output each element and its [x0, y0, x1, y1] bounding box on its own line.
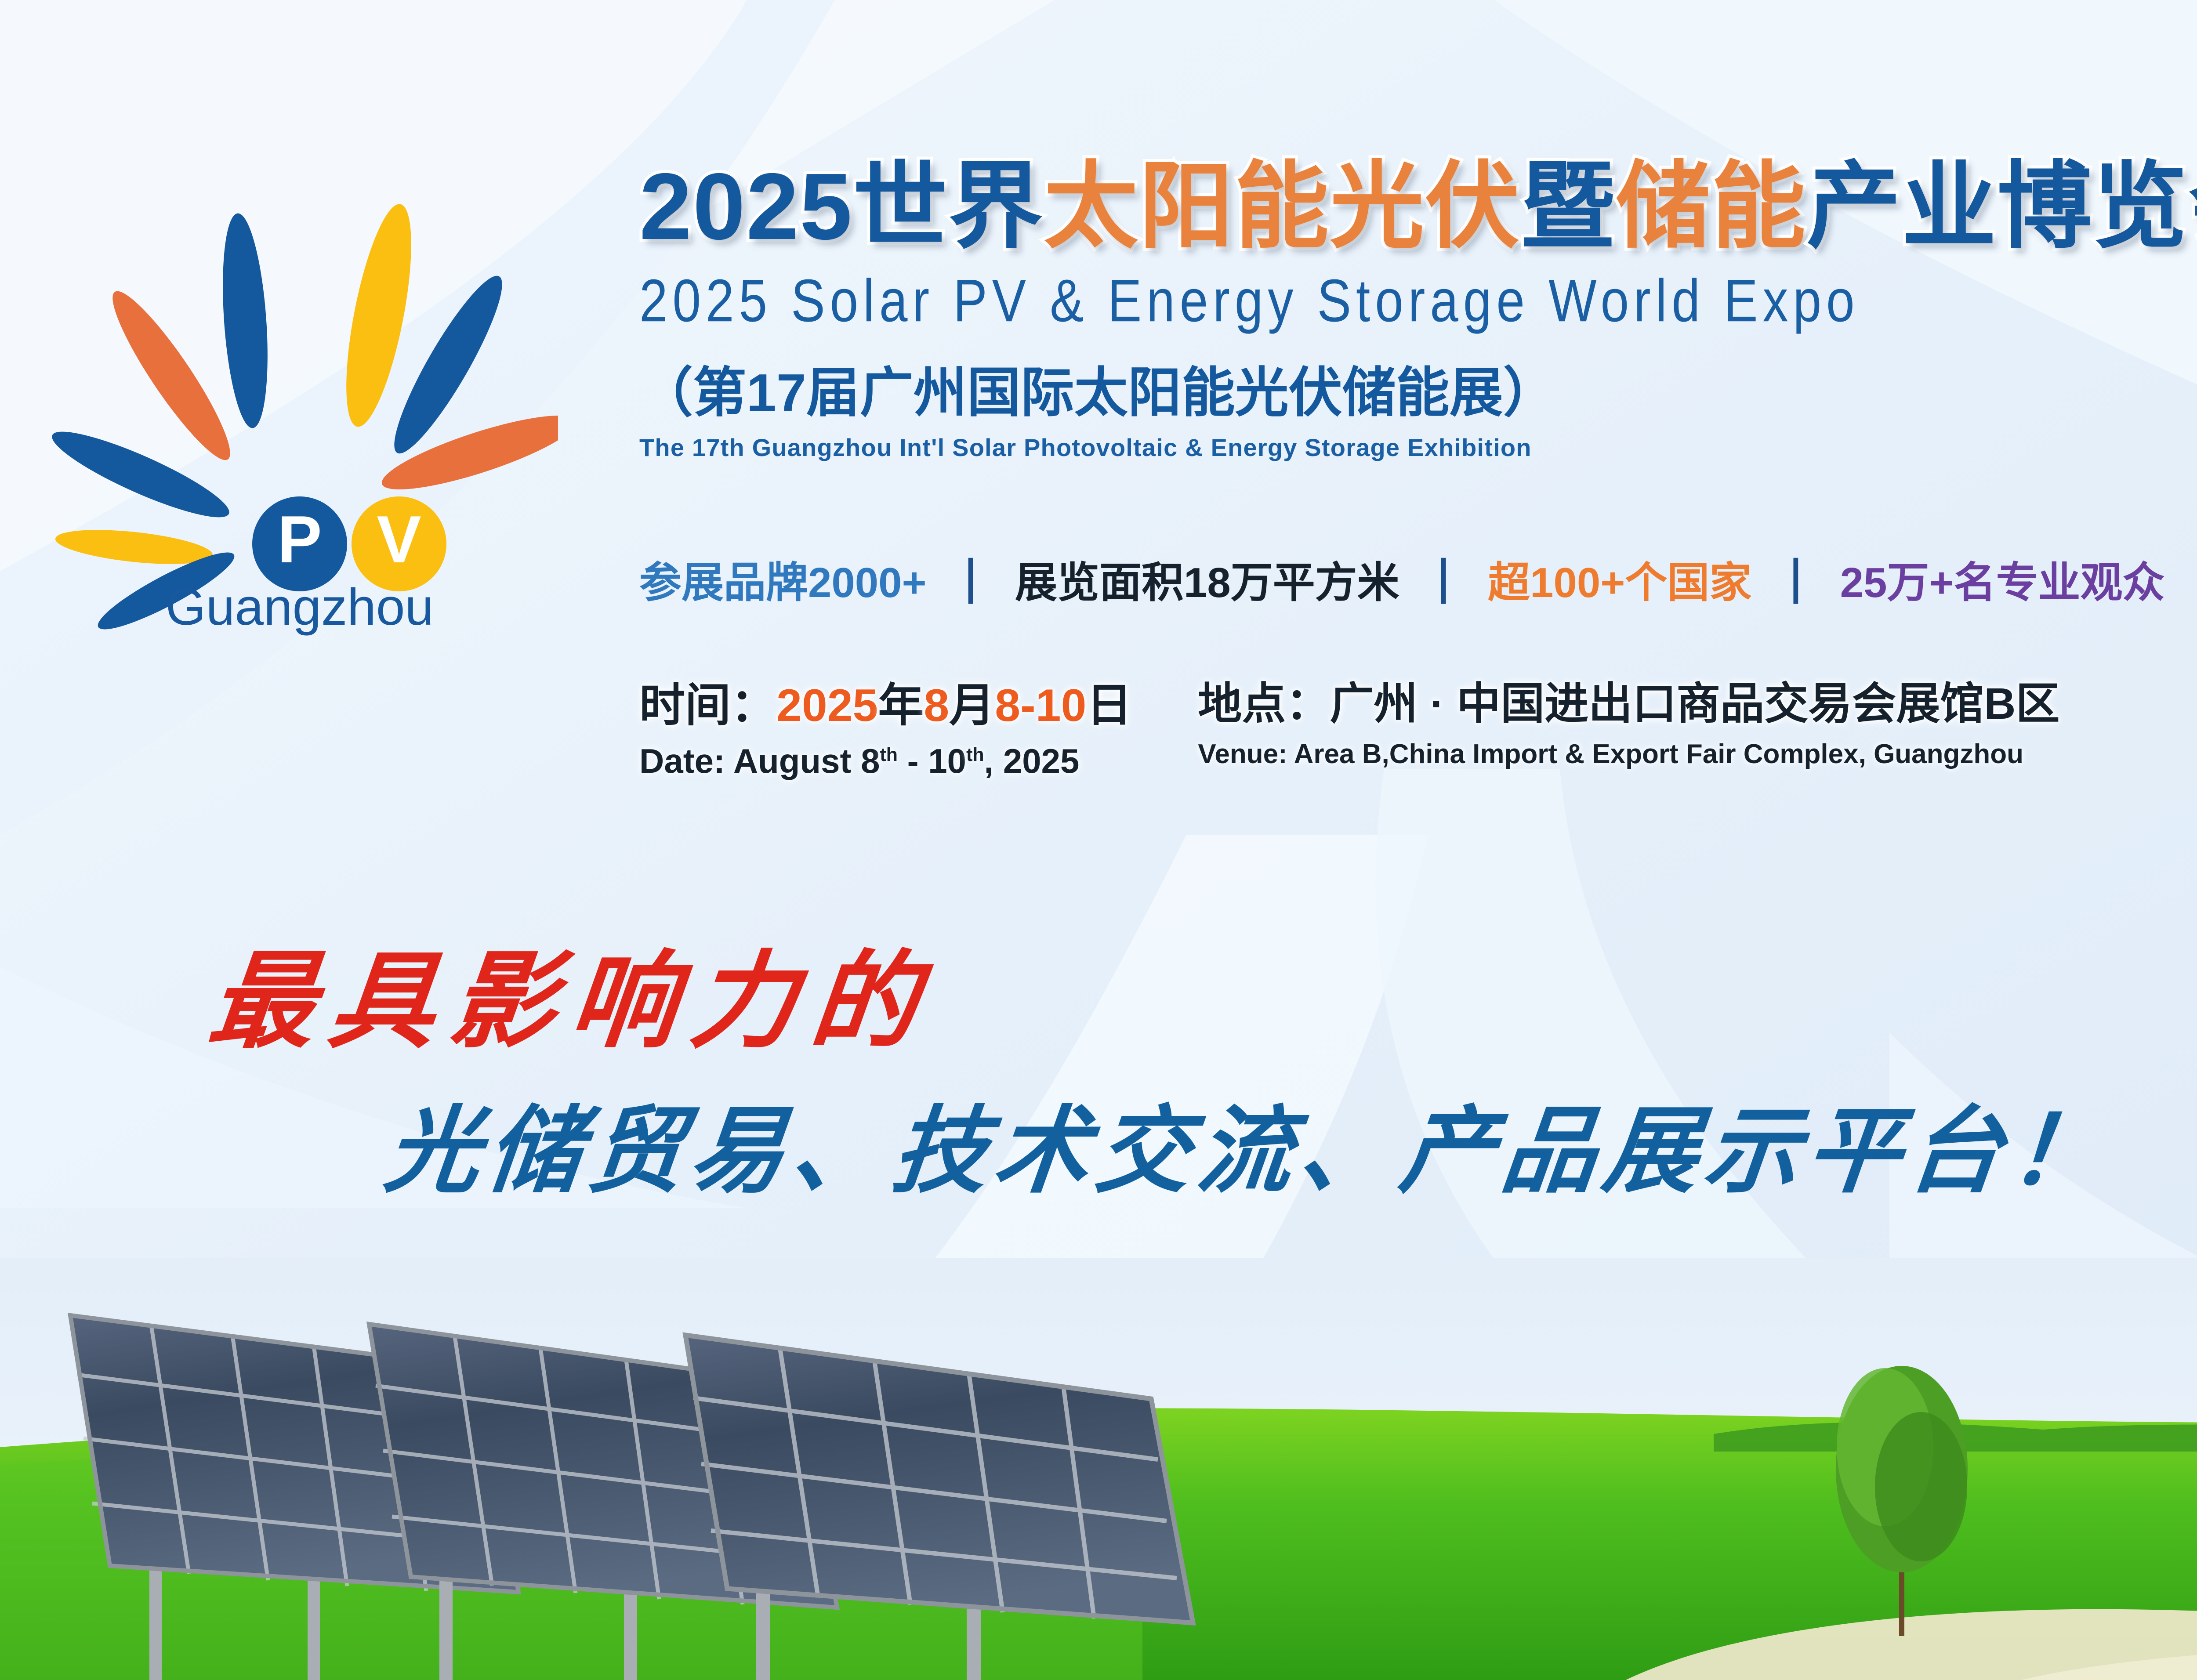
landscape-scene — [0, 1258, 2197, 1680]
subtitle-english: The 17th Guangzhou Int'l Solar Photovolt… — [639, 433, 2197, 462]
date-en-sup-2: th — [966, 744, 984, 765]
date-en-mid: - 10 — [898, 742, 966, 780]
logo-city-label: Guangzhou — [166, 578, 434, 636]
date-en-suffix: , 2025 — [984, 742, 1080, 780]
title-part-4: 储能 — [1616, 153, 1806, 259]
stat-separator-2: 丨 — [1422, 558, 1465, 607]
date-en-sup-1: th — [880, 744, 898, 765]
title-part-3: 暨 — [1520, 153, 1616, 259]
logo-sunburst-graphic: P V Guangzhou — [40, 176, 558, 641]
main-title-english: 2025 Solar PV & Energy Storage World Exp… — [639, 266, 2197, 335]
date-venue-block: 时间：2025年8月8-10日 Date: August 8th - 10th,… — [639, 668, 2197, 781]
calligraphy-line-1: 最具影响力的 — [203, 916, 941, 1068]
venue-column: 地点：广州 · 中国进出口商品交易会展馆B区 Venue: Area B,Chi… — [1198, 668, 2059, 781]
subtitle-chinese: （第17届广州国际太阳能光伏储能展） — [639, 349, 2197, 427]
venue-line-chinese: 地点：广州 · 中国进出口商品交易会展馆B区 — [1198, 668, 2059, 731]
date-column: 时间：2025年8月8-10日 Date: August 8th - 10th,… — [639, 668, 1132, 781]
title-part-1: 2025世界 — [639, 153, 1044, 259]
date-year-value: 2025 — [776, 680, 878, 731]
date-month-value: 8 — [924, 680, 949, 731]
venue-label-cn: 地点： — [1198, 679, 1330, 728]
stat-separator-1: 丨 — [950, 558, 992, 607]
headline-block: 2025世界太阳能光伏暨储能产业博览会 2025 Solar PV & Ener… — [639, 154, 2197, 462]
title-part-5: 产业博览会 — [1806, 153, 2197, 259]
stat-separator-3: 丨 — [1775, 558, 1817, 607]
title-part-2: 太阳能光伏 — [1044, 153, 1520, 259]
stat-item-brands: 参展品牌2000+ — [639, 562, 927, 604]
stat-item-area: 展览面积18万平方米 — [1015, 562, 1399, 604]
venue-line-english: Venue: Area B,China Import & Export Fair… — [1198, 739, 2059, 770]
stat-item-visitors: 25万+名专业观众 — [1840, 562, 2165, 604]
date-en-prefix: Date: August 8 — [639, 742, 880, 780]
date-line-chinese: 时间：2025年8月8-10日 — [639, 668, 1132, 734]
date-line-english: Date: August 8th - 10th, 2025 — [639, 741, 1132, 781]
stat-item-countries: 超100+个国家 — [1488, 562, 1751, 604]
main-title-chinese: 2025世界太阳能光伏暨储能产业博览会 — [639, 154, 2197, 260]
logo-letter-p: P — [277, 502, 322, 577]
expo-banner: P V Guangzhou 2025世界太阳能光伏暨储能产业博览会 2025 S… — [0, 0, 2197, 1680]
date-days-value: 8-10 — [995, 680, 1086, 731]
logo-letter-v: V — [377, 502, 421, 577]
date-day-unit: 日 — [1086, 680, 1132, 731]
stats-strip: 参展品牌2000+ 丨 展览面积18万平方米 丨 超100+个国家 丨 25万+… — [639, 559, 2165, 604]
calligraphy-line-2: 光储贸易、技术交流、产品展示平台！ — [380, 1074, 2120, 1211]
date-month-unit: 月 — [949, 680, 995, 731]
venue-value-cn: 广州 · 中国进出口商品交易会展馆B区 — [1330, 679, 2059, 728]
landscape-illustration — [0, 1258, 2197, 1680]
date-year-unit: 年 — [878, 680, 924, 731]
date-label-cn: 时间： — [639, 680, 776, 731]
pv-guangzhou-logo: P V Guangzhou — [40, 176, 558, 641]
